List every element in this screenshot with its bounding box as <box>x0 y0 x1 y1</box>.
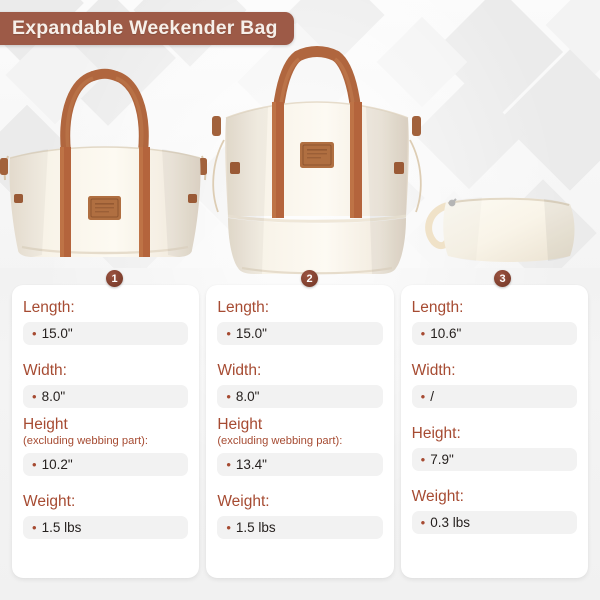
spec-value-text: 10.6" <box>430 326 461 341</box>
spec-value: • 1.5 lbs <box>217 516 382 539</box>
weekender-bag-expanded <box>198 44 436 284</box>
spec-width: Width: • 8.0" <box>23 361 188 408</box>
product-badge-2: 2 <box>301 270 318 287</box>
bullet-icon: • <box>32 390 37 403</box>
infographic-page: Expandable Weekender Bag <box>0 0 600 600</box>
spec-label: Height <box>23 415 188 434</box>
bullet-icon: • <box>32 521 37 534</box>
zip-pouch <box>412 172 592 276</box>
spec-sublabel: (excluding webbing part): <box>23 435 188 448</box>
spec-value: • 15.0" <box>23 322 188 345</box>
spec-label: Height: <box>412 424 577 443</box>
page-title: Expandable Weekender Bag <box>12 17 278 40</box>
product-badge-3: 3 <box>494 270 511 287</box>
spec-label: Height <box>217 415 382 434</box>
spec-value-text: / <box>430 389 434 404</box>
spec-width: Width: • / <box>412 361 577 408</box>
spec-length: Length: • 10.6" <box>412 298 577 345</box>
bullet-icon: • <box>226 327 231 340</box>
spec-value-text: 8.0" <box>236 389 260 404</box>
spec-length: Length: • 15.0" <box>217 298 382 345</box>
spec-label: Width: <box>23 361 188 380</box>
bullet-icon: • <box>421 516 426 529</box>
spec-value-text: 10.2" <box>42 457 73 472</box>
spec-value-text: 0.3 lbs <box>430 515 470 530</box>
spec-label: Length: <box>23 298 188 317</box>
spec-value: • 10.6" <box>412 322 577 345</box>
spec-value-text: 1.5 lbs <box>42 520 82 535</box>
spec-value-text: 13.4" <box>236 457 267 472</box>
bullet-icon: • <box>421 390 426 403</box>
bullet-icon: • <box>32 458 37 471</box>
spec-height: Height (excluding webbing part): • 10.2" <box>23 415 188 476</box>
weekender-bag-folded <box>0 54 216 270</box>
spec-card-row: Length: • 15.0" Width: • 8.0" Height (ex… <box>0 285 600 578</box>
spec-width: Width: • 8.0" <box>217 361 382 408</box>
spec-length: Length: • 15.0" <box>23 298 188 345</box>
title-banner: Expandable Weekender Bag <box>0 12 294 45</box>
spec-card-2: Length: • 15.0" Width: • 8.0" Height (ex… <box>206 285 393 578</box>
spec-sublabel: (excluding webbing part): <box>217 435 382 448</box>
spec-weight: Weight: • 1.5 lbs <box>217 492 382 539</box>
spec-value: • 0.3 lbs <box>412 511 577 534</box>
spec-label: Length: <box>217 298 382 317</box>
spec-value: • 10.2" <box>23 453 188 476</box>
spec-value: • 13.4" <box>217 453 382 476</box>
bullet-icon: • <box>226 521 231 534</box>
spec-value-text: 15.0" <box>42 326 73 341</box>
spec-value: • / <box>412 385 577 408</box>
spec-value: • 15.0" <box>217 322 382 345</box>
spec-label: Weight: <box>412 487 577 506</box>
product-badge-1: 1 <box>106 270 123 287</box>
spec-value-text: 8.0" <box>42 389 66 404</box>
bullet-icon: • <box>226 390 231 403</box>
spec-label: Length: <box>412 298 577 317</box>
spec-value: • 1.5 lbs <box>23 516 188 539</box>
spec-value: • 7.9" <box>412 448 577 471</box>
spec-value-text: 15.0" <box>236 326 267 341</box>
spec-height: Height: • 7.9" <box>412 424 577 471</box>
spec-value-text: 1.5 lbs <box>236 520 276 535</box>
product-image-row: 1 2 3 <box>0 46 600 270</box>
spec-label: Width: <box>217 361 382 380</box>
spec-value: • 8.0" <box>23 385 188 408</box>
spec-label: Width: <box>412 361 577 380</box>
spec-height: Height (excluding webbing part): • 13.4" <box>217 415 382 476</box>
bullet-icon: • <box>226 458 231 471</box>
spec-card-3: Length: • 10.6" Width: • / Height: • 7.9… <box>401 285 588 578</box>
spec-label: Weight: <box>23 492 188 511</box>
spec-value: • 8.0" <box>217 385 382 408</box>
spec-weight: Weight: • 1.5 lbs <box>23 492 188 539</box>
spec-value-text: 7.9" <box>430 452 454 467</box>
spec-label: Weight: <box>217 492 382 511</box>
bullet-icon: • <box>421 453 426 466</box>
spec-weight: Weight: • 0.3 lbs <box>412 487 577 534</box>
bullet-icon: • <box>32 327 37 340</box>
bullet-icon: • <box>421 327 426 340</box>
spec-card-1: Length: • 15.0" Width: • 8.0" Height (ex… <box>12 285 199 578</box>
